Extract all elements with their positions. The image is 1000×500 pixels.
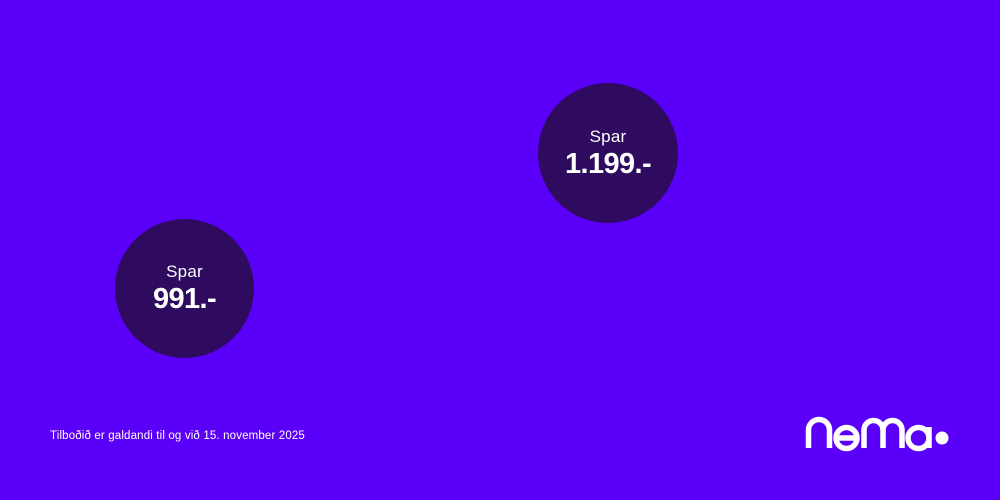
nema-logo-dot-icon	[936, 432, 949, 445]
offer-disclaimer-text: Tilboðið er galdandi til og við 15. nove…	[50, 430, 305, 442]
savings-bubble-amount: 1.199.-	[565, 150, 651, 179]
nema-logo	[804, 412, 949, 452]
nema-logo-icon	[804, 412, 949, 452]
savings-bubble-label: Spar	[590, 128, 627, 145]
promo-banner: Spar 1.199.- Spar 991.- Tilboðið er gald…	[0, 0, 1000, 500]
savings-bubble-amount: 991.-	[153, 285, 216, 314]
savings-bubble-label: Spar	[166, 263, 203, 280]
savings-bubble: Spar 991.-	[115, 219, 254, 358]
savings-bubble: Spar 1.199.-	[538, 83, 678, 223]
